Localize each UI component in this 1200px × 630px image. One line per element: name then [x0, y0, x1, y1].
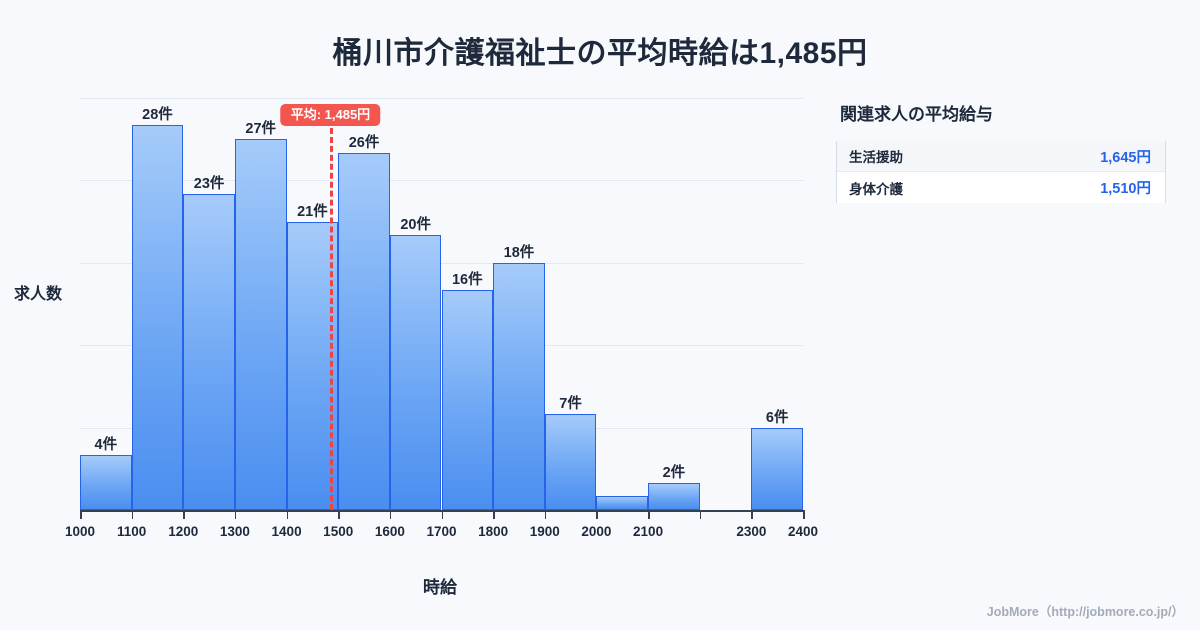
chart-page: 桶川市介護福祉士の平均時給は1,485円 4件28件23件27件21件26件20… [0, 0, 1200, 630]
related-salary-row: 生活援助1,645円 [837, 141, 1165, 172]
related-salary-row-label: 身体介護 [849, 178, 903, 198]
y-axis-title: 求人数 [14, 280, 62, 304]
average-badge: 平均: 1,485円 [281, 104, 380, 126]
x-axis-title: 時給 [0, 573, 880, 598]
average-line [330, 128, 333, 510]
average-marker-group: 平均: 1,485円 [0, 0, 830, 630]
related-salary-table: 生活援助1,645円身体介護1,510円 [836, 141, 1166, 203]
side-panel-title: 関連求人の平均給与 [840, 100, 1166, 125]
footer-attribution: JobMore（http://jobmore.co.jp/） [987, 601, 1184, 620]
related-salary-row-value: 1,510円 [1100, 177, 1151, 198]
related-salary-row-label: 生活援助 [849, 146, 903, 166]
related-salary-row: 身体介護1,510円 [837, 172, 1165, 203]
related-salary-panel: 関連求人の平均給与 生活援助1,645円身体介護1,510円 [836, 100, 1166, 203]
related-salary-row-value: 1,645円 [1100, 146, 1151, 167]
histogram-chart: 4件28件23件27件21件26件20件16件18件7件2件6件 1000110… [0, 0, 830, 630]
